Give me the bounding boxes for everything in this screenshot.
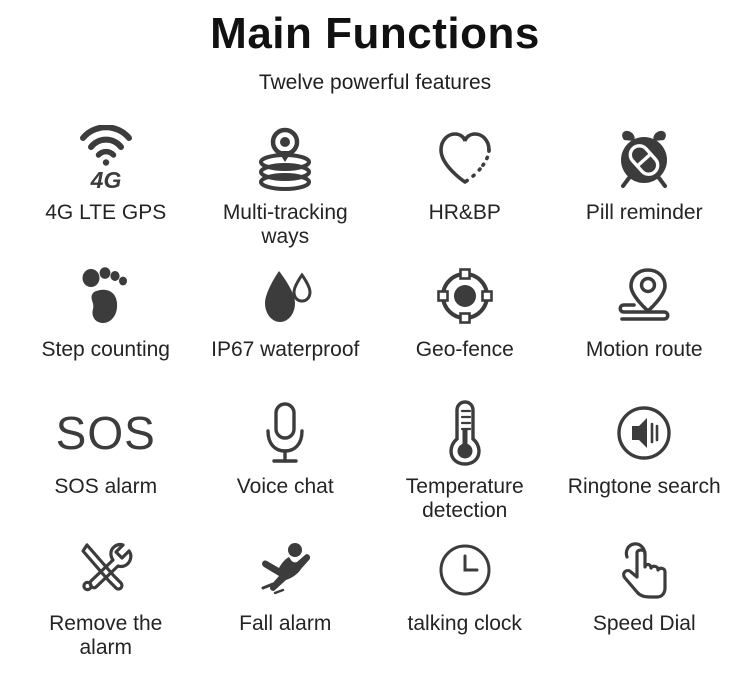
feature-label: Temperature detection [406,475,524,522]
feature-label: HR&BP [429,201,501,225]
feature-label: Multi-tracking ways [223,201,348,248]
sos-text-icon: SOS [16,397,196,469]
feature-label: IP67 waterproof [211,338,359,362]
tools-icon [16,534,196,606]
water-drop-icon [196,260,376,332]
feature-item-motion-route: Motion route [555,260,735,397]
feature-item-multi-tracking-ways: Multi-tracking ways [196,123,376,260]
footprint-icon [16,260,196,332]
falling-person-icon [196,534,376,606]
feature-label: Fall alarm [239,612,331,636]
4g-label: 4G [89,167,121,193]
alarm-pill-icon [555,123,735,195]
feature-item-temperature-detection: Temperature detection [375,397,555,534]
feature-label: Step counting [42,338,170,362]
heart-pulse-icon [375,123,555,195]
feature-item-hr-bp: HR&BP [375,123,555,260]
feature-grid: 4G 4G LTE GPS [0,123,750,671]
page-subtitle: Twelve powerful features [0,71,750,95]
feature-item-step-counting: Step counting [16,260,196,397]
feature-item-sos-alarm: SOS SOS alarm [16,397,196,534]
feature-item-speed-dial: Speed Dial [555,534,735,671]
feature-item-pill-reminder: Pill reminder [555,123,735,260]
feature-label: Speed Dial [593,612,696,636]
clock-icon [375,534,555,606]
location-layers-icon [196,123,376,195]
tap-hand-icon [555,534,735,606]
4g-badge-text: 4G [84,167,128,193]
feature-label: Pill reminder [586,201,703,225]
thermometer-icon [375,397,555,469]
wifi-4g-icon: 4G [16,123,196,195]
geofence-icon [375,260,555,332]
feature-label: Ringtone search [568,475,721,499]
page-header: Main Functions Twelve powerful features [0,0,750,95]
feature-label: Voice chat [237,475,334,499]
feature-label: Geo-fence [416,338,514,362]
feature-label: talking clock [408,612,522,636]
feature-item-talking-clock: talking clock [375,534,555,671]
map-pin-route-icon [555,260,735,332]
feature-item-remove-the-alarm: Remove the alarm [16,534,196,671]
feature-item-voice-chat: Voice chat [196,397,376,534]
feature-label: Motion route [586,338,703,362]
page-title: Main Functions [0,8,750,59]
feature-item-geo-fence: Geo-fence [375,260,555,397]
sos-label: SOS [56,410,156,456]
feature-label: 4G LTE GPS [45,201,166,225]
feature-label: SOS alarm [54,475,157,499]
speaker-icon [555,397,735,469]
main-functions-page: Main Functions Twelve powerful features [0,0,750,692]
microphone-icon [196,397,376,469]
feature-item-fall-alarm: Fall alarm [196,534,376,671]
feature-label: Remove the alarm [49,612,162,659]
feature-item-4g-lte-gps: 4G 4G LTE GPS [16,123,196,260]
feature-item-ip67-waterproof: IP67 waterproof [196,260,376,397]
feature-item-ringtone-search: Ringtone search [555,397,735,534]
